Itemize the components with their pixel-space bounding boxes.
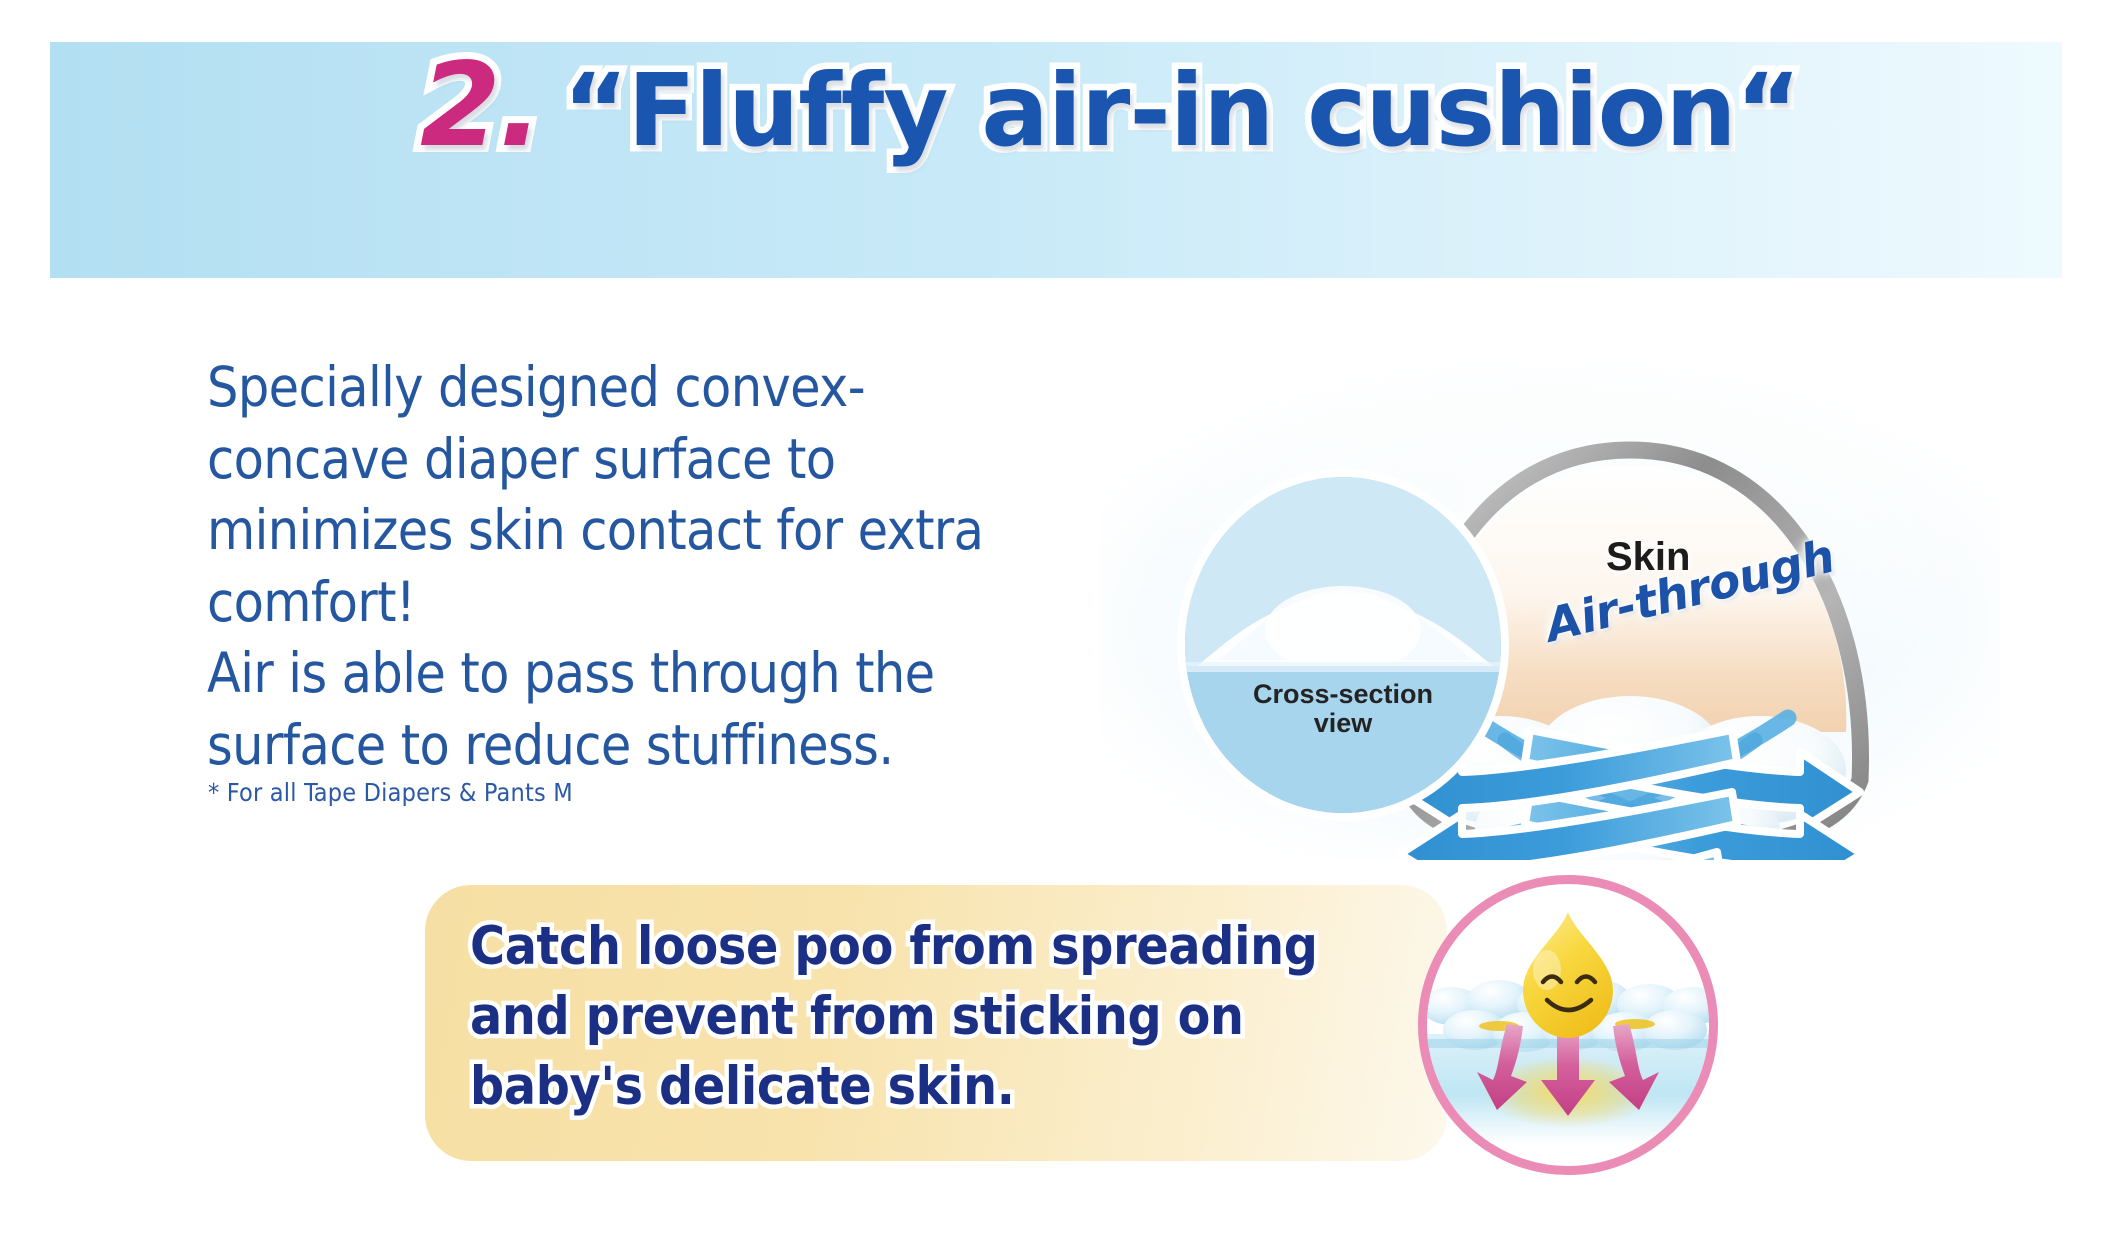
illustration-graphic [1100,300,2000,860]
badge-ring [1418,875,1718,1175]
cross-section-label: Cross-section view [1233,680,1453,738]
banner-line-2: and prevent from sticking on [470,982,1390,1052]
header-title: 2. “Fluffy air-in cushion“ [420,48,1800,164]
loose-poo-badge [1418,875,1718,1175]
smiling-droplet [1523,912,1613,1038]
body-line-2: concave diaper surface to [207,424,1037,496]
section-number: 2. [420,48,541,164]
droplet-absorption-icon [1427,884,1709,1166]
cross-section-circle [1177,469,1509,821]
highlight-banner-text: Catch loose poo from spreading and preve… [470,912,1390,1122]
cross-section-label-line2: view [1314,708,1373,738]
section-title-text: “Fluffy air-in cushion“ [563,61,1800,161]
banner-line-1: Catch loose poo from spreading [470,912,1390,982]
body-line-6: surface to reduce stuffiness. [207,710,1037,782]
footnote-text: * For all Tape Diapers & Pants M [208,778,573,807]
banner-line-3: baby's delicate skin. [470,1052,1390,1122]
body-line-3: minimizes skin contact for extra [207,495,1037,567]
body-line-5: Air is able to pass through the [207,638,1037,710]
body-line-1: Specially designed convex- [207,352,1037,424]
body-copy: Specially designed convex- concave diape… [207,352,1037,781]
cross-section-label-line1: Cross-section [1253,679,1433,709]
air-through-illustration: Skin Air-through Cross-section view [1100,300,2000,860]
body-line-4: comfort! [207,567,1037,639]
